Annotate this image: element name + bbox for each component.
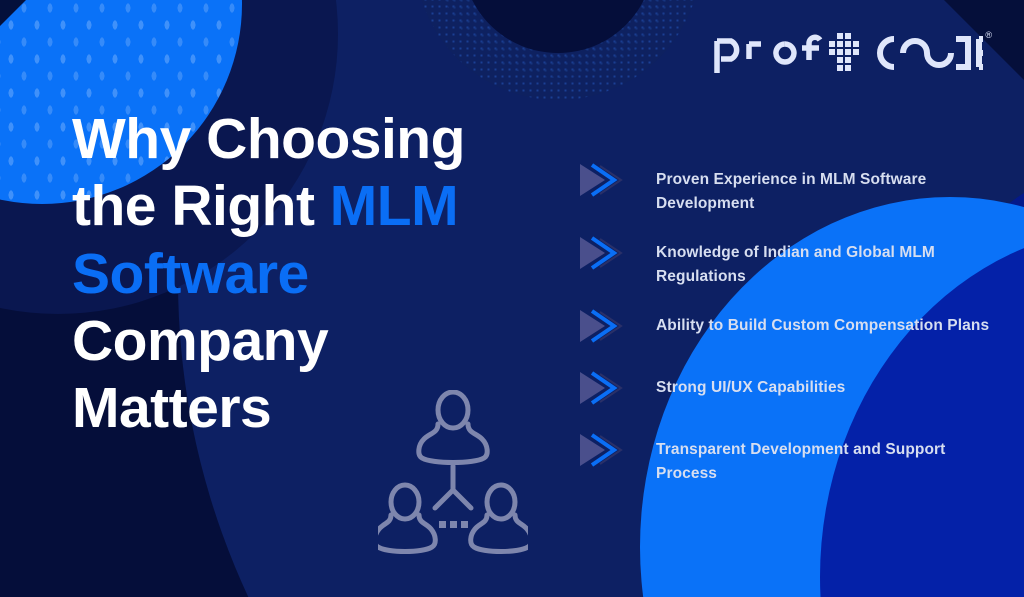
- headline-line-2-plain: the Right: [72, 174, 330, 238]
- brand-logo[interactable]: ®: [713, 26, 992, 76]
- headline-line-2-highlight: MLM: [330, 174, 458, 238]
- headline-line-4: Company: [72, 309, 328, 373]
- double-chevron-arrow-icon: [578, 233, 626, 273]
- feature-label: Ability to Build Custom Compensation Pla…: [656, 310, 989, 338]
- list-item: Proven Experience in MLM Software Develo…: [578, 164, 998, 215]
- headline-line-3-highlight: Software: [72, 242, 309, 306]
- profi-code-wordmark-icon: [713, 27, 983, 75]
- feature-label: Transparent Development and Support Proc…: [656, 434, 998, 485]
- plus-glyph: [829, 33, 859, 71]
- connection-dots-icon: [439, 521, 468, 528]
- feature-label: Knowledge of Indian and Global MLM Regul…: [656, 237, 998, 288]
- list-item: Transparent Development and Support Proc…: [578, 434, 998, 485]
- double-chevron-arrow-icon: [578, 160, 626, 200]
- feature-label: Strong UI/UX Capabilities: [656, 372, 845, 400]
- list-item: Knowledge of Indian and Global MLM Regul…: [578, 237, 998, 288]
- headline-line-1: Why Choosing: [72, 107, 465, 171]
- list-item: Strong UI/UX Capabilities: [578, 372, 998, 412]
- double-chevron-arrow-icon: [578, 430, 626, 470]
- registered-trademark-symbol: ®: [985, 31, 992, 40]
- headline-line-5: Matters: [72, 376, 271, 440]
- feature-list: Proven Experience in MLM Software Develo…: [578, 164, 998, 485]
- double-chevron-arrow-icon: [578, 368, 626, 408]
- double-chevron-arrow-icon: [578, 306, 626, 346]
- feature-label: Proven Experience in MLM Software Develo…: [656, 164, 998, 215]
- promo-banner: ® Why Choosing the Right MLM Software Co…: [0, 0, 1024, 597]
- network-hierarchy-people-icon: [378, 390, 528, 555]
- list-item: Ability to Build Custom Compensation Pla…: [578, 310, 998, 350]
- banner-content: ® Why Choosing the Right MLM Software Co…: [0, 0, 1024, 597]
